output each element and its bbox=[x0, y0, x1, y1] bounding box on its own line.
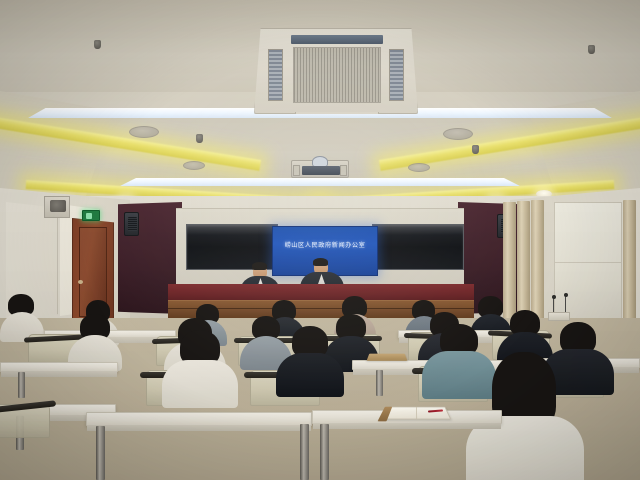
projector-body bbox=[302, 166, 340, 175]
attendee-torso bbox=[422, 351, 496, 399]
desk-leg bbox=[96, 426, 105, 480]
projector-icon bbox=[291, 160, 349, 178]
wall-plaque bbox=[44, 196, 70, 218]
smoke-detector-icon bbox=[94, 40, 101, 49]
desk bbox=[0, 362, 118, 372]
desk-leg bbox=[300, 424, 309, 480]
desk-edge bbox=[87, 425, 311, 431]
screen-title-text: 崂山区人民政府新闻办公室 bbox=[285, 240, 366, 249]
ac-vent-left bbox=[268, 49, 283, 101]
wall-speaker-left-icon bbox=[124, 212, 139, 236]
ceiling-speaker-icon bbox=[408, 163, 430, 172]
curtain-panel bbox=[623, 200, 636, 328]
ceiling-speaker-icon bbox=[129, 126, 159, 138]
speaker-hair bbox=[252, 262, 267, 270]
sprinkler-icon bbox=[472, 145, 479, 154]
air-conditioner-icon bbox=[254, 28, 418, 114]
attendee-torso bbox=[162, 360, 238, 408]
desk-foreground bbox=[86, 412, 312, 426]
wall-display-right bbox=[372, 224, 464, 270]
projector-side-left bbox=[293, 165, 300, 176]
speaker-hair bbox=[313, 258, 328, 266]
sprinkler-icon bbox=[196, 134, 203, 143]
attendee-torso bbox=[276, 353, 344, 397]
desk-edge bbox=[313, 423, 501, 429]
smoke-detector-icon bbox=[588, 45, 595, 54]
projector-side-right bbox=[340, 165, 347, 176]
conference-room-photo: 崂山区人民政府新闻办公室 bbox=[0, 0, 640, 480]
ceiling bbox=[0, 0, 640, 210]
led-strip-2 bbox=[120, 178, 520, 186]
desk-leg bbox=[376, 370, 383, 396]
microphone-icon bbox=[565, 296, 566, 312]
microphone-base bbox=[548, 312, 570, 321]
desk-leg bbox=[18, 372, 25, 398]
ac-vent-right bbox=[389, 49, 404, 101]
ceiling-speaker-icon bbox=[183, 161, 205, 170]
desk-leg bbox=[320, 424, 329, 480]
ac-grille bbox=[293, 47, 381, 103]
notebook-closed bbox=[367, 354, 408, 361]
ac-louver bbox=[291, 35, 383, 44]
ceiling-speaker-icon bbox=[443, 128, 473, 140]
exit-sign-icon bbox=[82, 210, 100, 221]
